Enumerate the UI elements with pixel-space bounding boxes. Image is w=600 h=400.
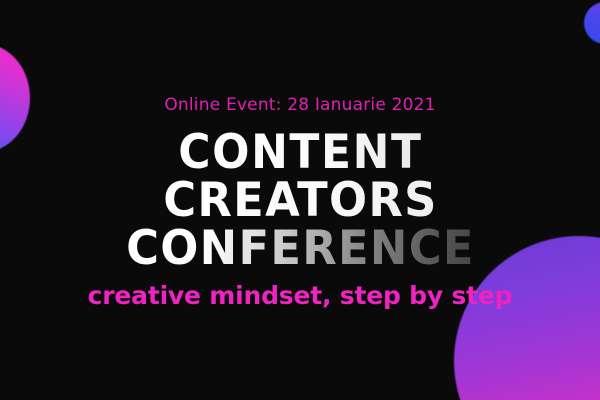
page-title-line-3: CONFERENCE: [126, 227, 475, 270]
page-title-line-2: CREATORS: [163, 179, 438, 222]
banner-content: Online Event: 28 Ianuarie 2021 CONTENT C…: [0, 0, 600, 400]
event-promo-banner: Online Event: 28 Ianuarie 2021 CONTENT C…: [0, 0, 600, 400]
page-title-line-1: CONTENT: [178, 131, 422, 174]
event-date-label: Online Event: 28 Ianuarie 2021: [164, 97, 435, 114]
tagline-text: creative mindset, step by step: [88, 283, 513, 308]
